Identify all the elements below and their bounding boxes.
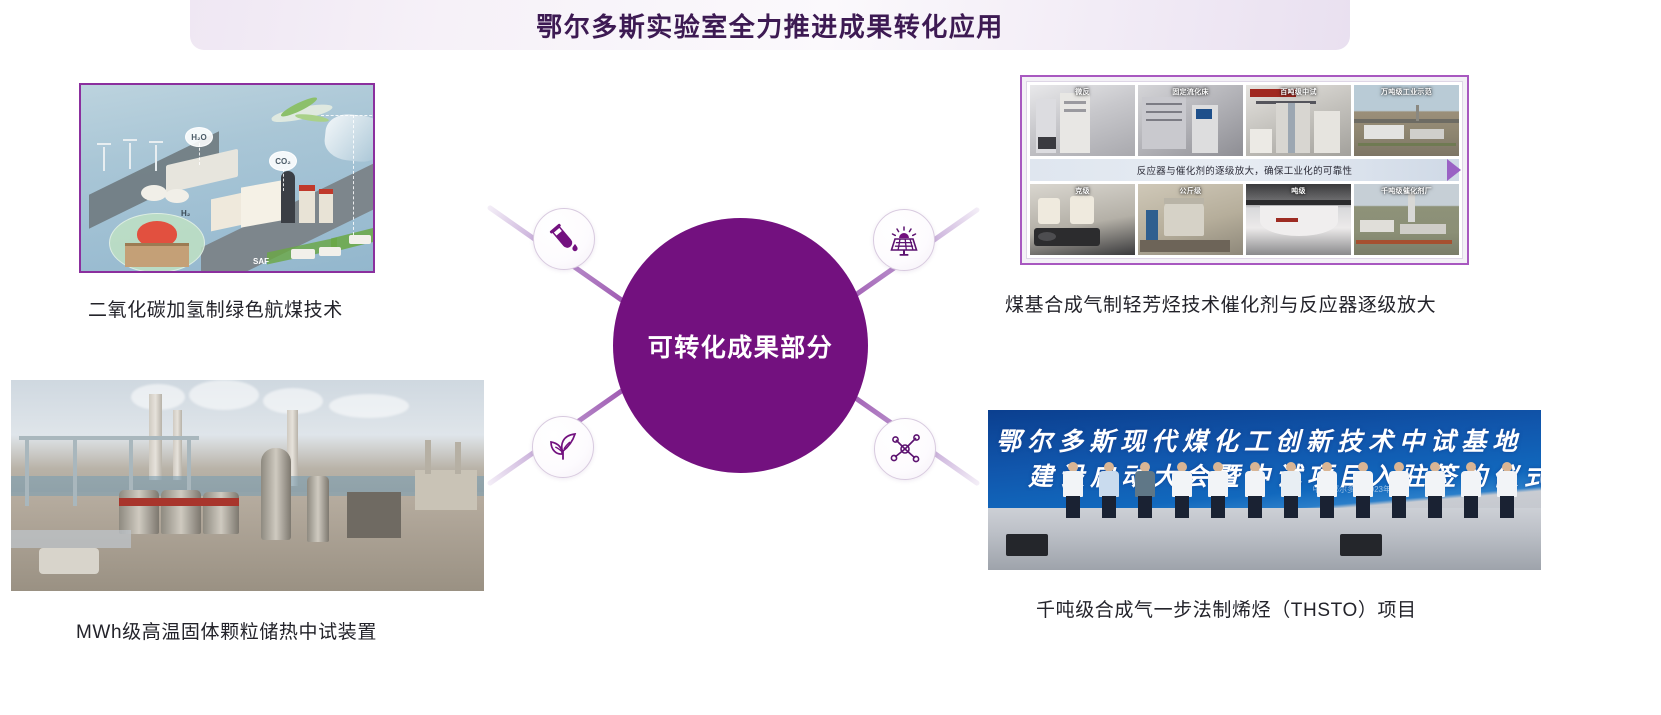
scaleup-tile: 微反: [1030, 85, 1135, 156]
scaleup-tile: 克级: [1030, 184, 1135, 255]
icon-bubble-molecule[interactable]: [874, 418, 936, 480]
scaleup-mid-banner-text: 反应器与催化剂的逐级放大，确保工业化的可靠性: [1137, 163, 1353, 177]
test-tube-icon: [547, 222, 581, 256]
arrow-right-icon: [1447, 159, 1461, 181]
caption-aromatics-scaleup: 煤基合成气制轻芳烃技术催化剂与反应器逐级放大: [1005, 290, 1436, 317]
center-hub: 可转化成果部分: [613, 218, 868, 473]
scaleup-bottom-row: 克级 公斤级 吨级 千吨级催化剂厂: [1030, 184, 1459, 255]
center-hub-label: 可转化成果部分: [648, 328, 834, 364]
leaf-icon: [545, 429, 581, 465]
caption-thermal-storage: MWh级高温固体颗粒储热中试装置: [76, 617, 377, 644]
speaker-box: [1340, 534, 1382, 556]
icon-bubble-leaf[interactable]: [532, 416, 594, 478]
label-co2: CO₂: [269, 151, 297, 171]
card-thermal-storage-image: [11, 380, 484, 591]
scaleup-tile: 公斤级: [1138, 184, 1243, 255]
scaleup-tile: 万吨级工业示范: [1354, 85, 1459, 156]
solar-panel-icon: [886, 222, 922, 258]
icon-bubble-test-tube[interactable]: [533, 208, 595, 270]
scaleup-tile: 固定流化床: [1138, 85, 1243, 156]
scaleup-top-row: 微反 固定流化床 百吨级中试: [1030, 85, 1459, 156]
card-aromatics-scaleup-image: 微反 固定流化床 百吨级中试: [1020, 75, 1469, 265]
label-h2: H₂: [181, 209, 190, 218]
scaleup-tile: 吨级: [1246, 184, 1351, 255]
card-co2-hydrogenation-image: H₂O CO₂ H₂ SAF: [79, 83, 375, 273]
ceremony-banner-line1: 鄂尔多斯现代煤化工创新技术中试基地: [996, 422, 1523, 458]
molecule-icon: [887, 431, 923, 467]
caption-co2-hydrogenation: 二氧化碳加氢制绿色航煤技术: [88, 295, 343, 322]
icon-bubble-solar-panel[interactable]: [873, 209, 935, 271]
label-saf: SAF: [253, 257, 269, 266]
speaker-box: [1006, 534, 1048, 556]
title-banner: 鄂尔多斯实验室全力推进成果转化应用: [190, 0, 1350, 50]
scaleup-tile: 百吨级中试: [1246, 85, 1351, 156]
card-thsto-project-image: 鄂尔多斯现代煤化工创新技术中试基地 建设启动大会暨中试项目入驻签约仪式 中国·鄂…: [988, 410, 1541, 570]
scaleup-tile: 千吨级催化剂厂: [1354, 184, 1459, 255]
caption-thsto-project: 千吨级合成气一步法制烯烃（THSTO）项目: [1036, 595, 1417, 622]
saf-illustration: H₂O CO₂ H₂ SAF: [81, 85, 373, 271]
scaleup-mid-banner: 反应器与催化剂的逐级放大，确保工业化的可靠性: [1030, 159, 1459, 180]
page-title: 鄂尔多斯实验室全力推进成果转化应用: [536, 7, 1004, 44]
